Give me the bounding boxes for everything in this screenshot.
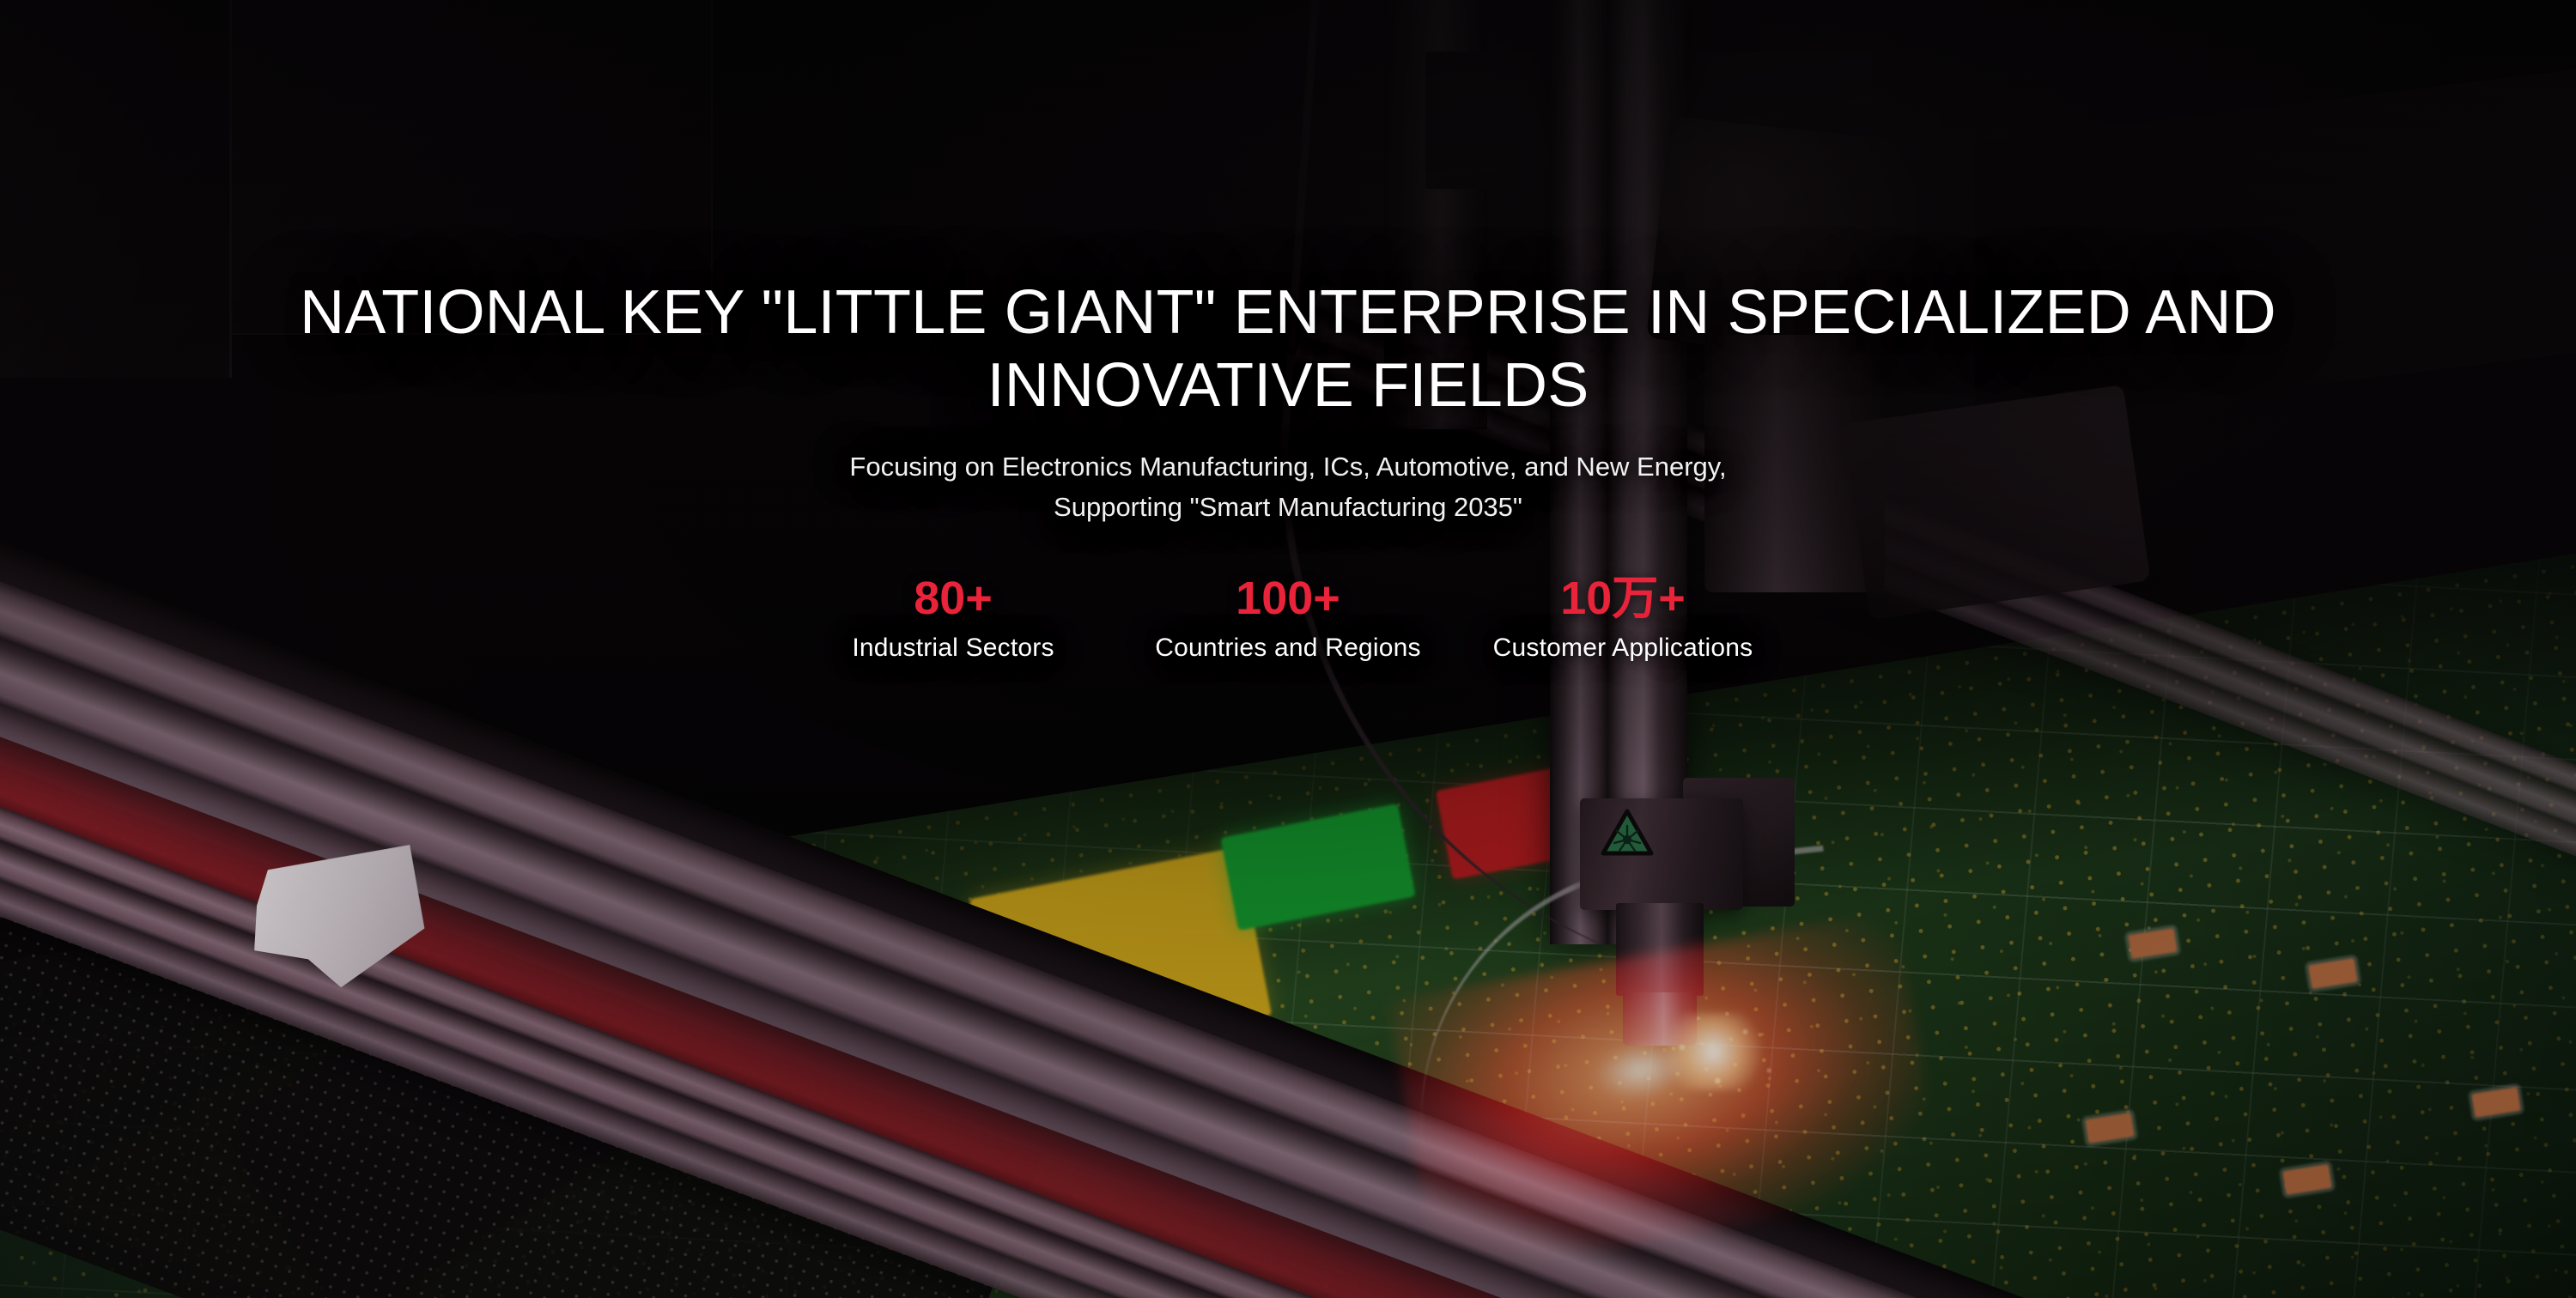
hero-subtitle-line-2: Supporting "Smart Manufacturing 2035" bbox=[849, 487, 1726, 527]
stat-label: Countries and Regions bbox=[1121, 634, 1455, 663]
stat-label: Industrial Sectors bbox=[786, 634, 1121, 663]
hero-content: NATIONAL KEY "LITTLE GIANT" ENTERPRISE I… bbox=[0, 0, 2576, 1298]
hero-stats-row: 80+ Industrial Sectors 100+ Countries an… bbox=[786, 573, 1790, 662]
stat-value: 100+ bbox=[1121, 573, 1455, 624]
hero-banner: NATIONAL KEY "LITTLE GIANT" ENTERPRISE I… bbox=[0, 0, 2576, 1298]
hero-subtitle-line-1: Focusing on Electronics Manufacturing, I… bbox=[849, 446, 1726, 487]
stat-value: 10万+ bbox=[1455, 573, 1790, 624]
stat-industrial-sectors: 80+ Industrial Sectors bbox=[786, 573, 1121, 662]
hero-subtitle: Focusing on Electronics Manufacturing, I… bbox=[849, 446, 1726, 527]
stat-countries-and-regions: 100+ Countries and Regions bbox=[1121, 573, 1455, 662]
hero-headline: NATIONAL KEY "LITTLE GIANT" ENTERPRISE I… bbox=[155, 276, 2421, 422]
stat-value: 80+ bbox=[786, 573, 1121, 624]
stat-customer-applications: 10万+ Customer Applications bbox=[1455, 573, 1790, 662]
stat-label: Customer Applications bbox=[1455, 634, 1790, 663]
